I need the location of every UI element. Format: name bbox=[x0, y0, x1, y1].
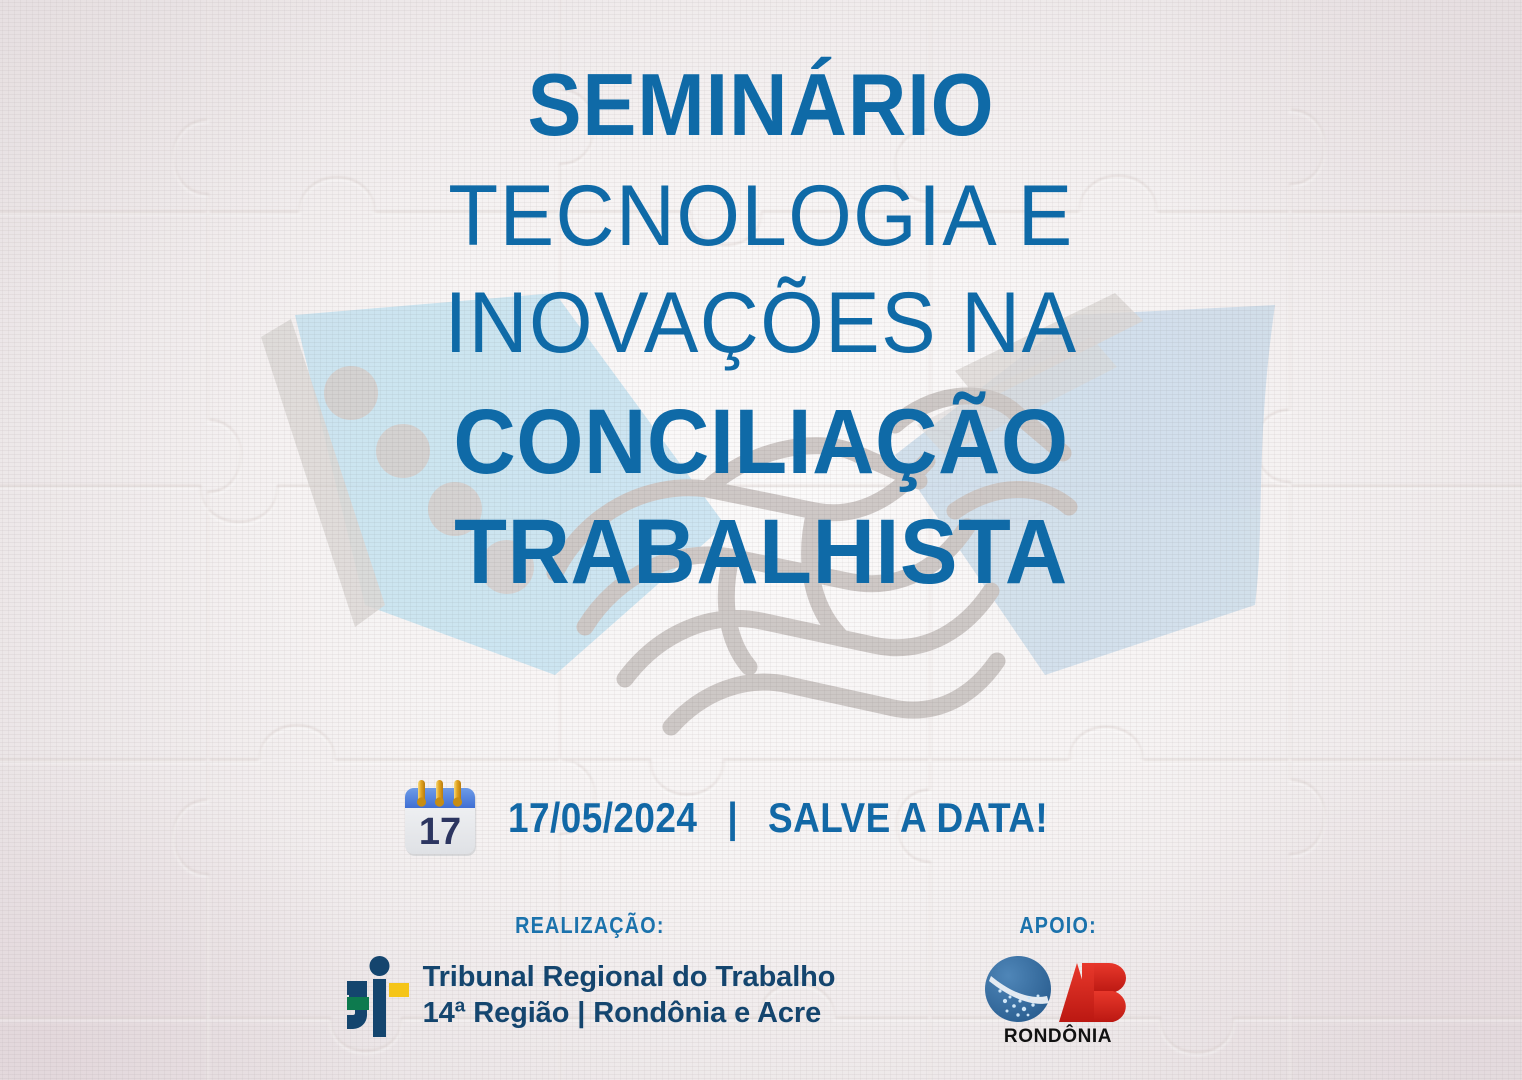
date-separator: | bbox=[724, 794, 742, 842]
trt-14-logo: Tribunal Regional do Trabalho 14ª Região… bbox=[345, 953, 836, 1039]
poster-canvas: SEMINÁRIO TECNOLOGIA E INOVAÇÕES NA CONC… bbox=[0, 0, 1522, 1080]
title-line-tecnologia: TECNOLOGIA E bbox=[38, 174, 1484, 258]
event-date: 17/05/2024 bbox=[508, 794, 697, 842]
title-line-trabalhista: TRABALHISTA bbox=[46, 507, 1477, 597]
trt-logo-line1: Tribunal Regional do Trabalho bbox=[423, 960, 836, 996]
oab-rondonia-logo: RONDÔNIA bbox=[983, 953, 1133, 1048]
apoio-block: APOIO: bbox=[938, 912, 1178, 1048]
poster-title-block: SEMINÁRIO TECNOLOGIA E INOVAÇÕES NA CONC… bbox=[0, 62, 1522, 607]
realizacao-label: REALIZAÇÃO: bbox=[515, 912, 665, 939]
date-row: 17 17/05/2024 | SALVE A DATA! bbox=[0, 778, 1522, 858]
jt-monogram-icon bbox=[345, 953, 409, 1039]
poster-footer: REALIZAÇÃO: bbox=[0, 912, 1522, 1080]
apoio-label: APOIO: bbox=[1019, 912, 1097, 939]
oab-subtitle: RONDÔNIA bbox=[1004, 1026, 1112, 1048]
title-line-conciliacao: CONCILIAÇÃO bbox=[46, 397, 1477, 487]
calendar-day-number: 17 bbox=[419, 811, 461, 853]
oab-letters-icon bbox=[983, 953, 1133, 1025]
trt-logo-line2: 14ª Região | Rondônia e Acre bbox=[423, 996, 836, 1032]
realizacao-block: REALIZAÇÃO: bbox=[330, 912, 850, 1039]
calendar-icon: 17 bbox=[400, 778, 482, 858]
title-line-seminario: SEMINÁRIO bbox=[61, 62, 1461, 148]
title-line-inovacoes: INOVAÇÕES NA bbox=[38, 281, 1484, 365]
save-the-date-label: SALVE A DATA! bbox=[768, 794, 1048, 842]
